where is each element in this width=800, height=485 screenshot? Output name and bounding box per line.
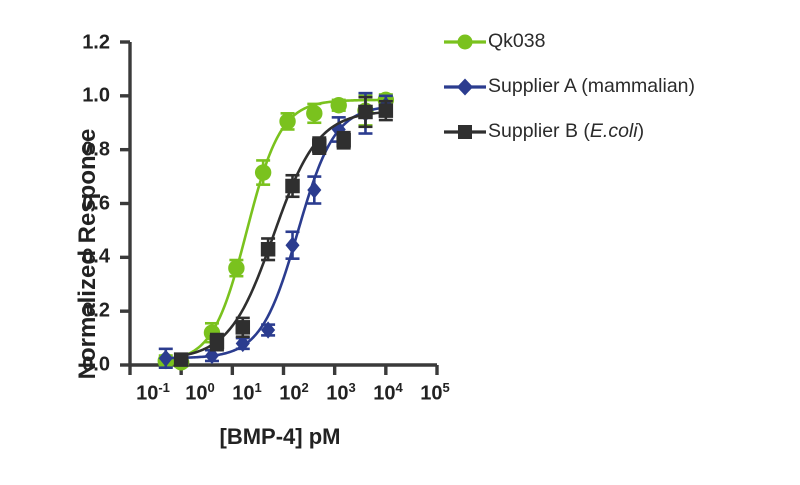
data-point-marker [279,113,295,129]
legend-key-diamond-icon [442,76,488,98]
legend-item-qk038[interactable]: Qk038 [442,30,695,53]
legend-label-supplier-b: Supplier B (E.coli) [488,120,644,143]
data-point-marker [210,335,225,350]
data-point-marker [174,352,189,367]
legend-item-supplier-b[interactable]: Supplier B (E.coli) [442,120,695,143]
data-point-marker [285,179,300,194]
data-point-marker [312,138,327,153]
data-point-marker [358,105,373,120]
data-point-marker [336,133,351,148]
data-point-marker [261,242,276,257]
axis-lines [130,42,437,365]
chart-legend: Qk038 Supplier A (mammalian) Supplier B … [442,30,695,143]
data-point-marker [255,164,271,180]
series-line [166,107,386,358]
data-point-marker [228,260,244,276]
legend-label-supplier-b-italic: E.coli [590,120,638,142]
legend-key-square-icon [442,121,488,143]
legend-label-supplier-a: Supplier A (mammalian) [488,75,695,98]
chart-figure: Normalized Response [BMP-4] pM 0.0 0.2 0… [0,0,800,485]
data-series-layer [158,92,394,371]
legend-label-qk038: Qk038 [488,30,545,53]
data-point-marker [285,237,299,254]
data-point-marker [379,103,394,118]
legend-item-supplier-a[interactable]: Supplier A (mammalian) [442,75,695,98]
series-line [181,112,386,356]
legend-key-circle-icon [442,31,488,53]
data-point-marker [236,320,251,335]
legend-label-supplier-b-prefix: Supplier B ( [488,120,590,142]
data-point-marker [306,105,322,121]
legend-label-supplier-b-suffix: ) [638,120,645,142]
data-point-marker [331,97,347,113]
